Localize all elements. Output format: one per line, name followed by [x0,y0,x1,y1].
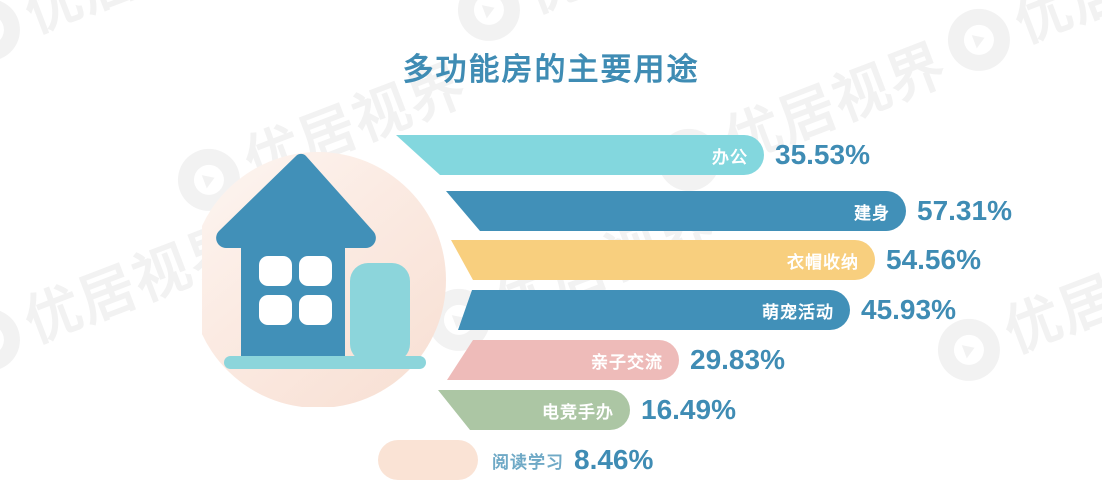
bar-row[interactable]: 萌宠活动45.93% [458,290,956,330]
bar-shape[interactable]: 办公 [396,135,764,175]
bar-value: 54.56% [886,244,981,276]
page-title: 多功能房的主要用途 [0,44,1102,89]
bar-shape[interactable]: 亲子交流 [447,340,679,380]
bar-shape[interactable]: 萌宠活动 [458,290,850,330]
bar-label: 萌宠活动 [762,298,834,323]
bar-row[interactable]: 建身57.31% [446,191,1012,231]
bar-label: 亲子交流 [591,348,663,373]
bar-label: 阅读学习 [492,448,564,473]
bar-shape[interactable]: 电竞手办 [438,390,630,430]
bar-label: 办公 [712,143,748,168]
bar-value: 16.49% [641,394,736,426]
bar-label: 建身 [854,199,890,224]
bar-value: 35.53% [775,139,870,171]
bar-shape[interactable]: 衣帽收纳 [451,240,875,280]
bar-label: 衣帽收纳 [787,248,859,273]
bar-label: 电竞手办 [542,398,614,423]
bar-row[interactable]: 衣帽收纳54.56% [451,240,981,280]
bar-shape[interactable]: 建身 [446,191,906,231]
bar-row[interactable]: 办公35.53% [396,135,870,175]
bar-shape[interactable] [378,440,478,480]
bar-row[interactable]: 电竞手办16.49% [438,390,736,430]
bar-row[interactable]: 阅读学习8.46% [378,440,653,480]
bar-value: 8.46% [574,444,653,476]
bar-value: 29.83% [690,344,785,376]
bar-row[interactable]: 亲子交流29.83% [447,340,785,380]
bar-value: 57.31% [917,195,1012,227]
bar-value: 45.93% [861,294,956,326]
